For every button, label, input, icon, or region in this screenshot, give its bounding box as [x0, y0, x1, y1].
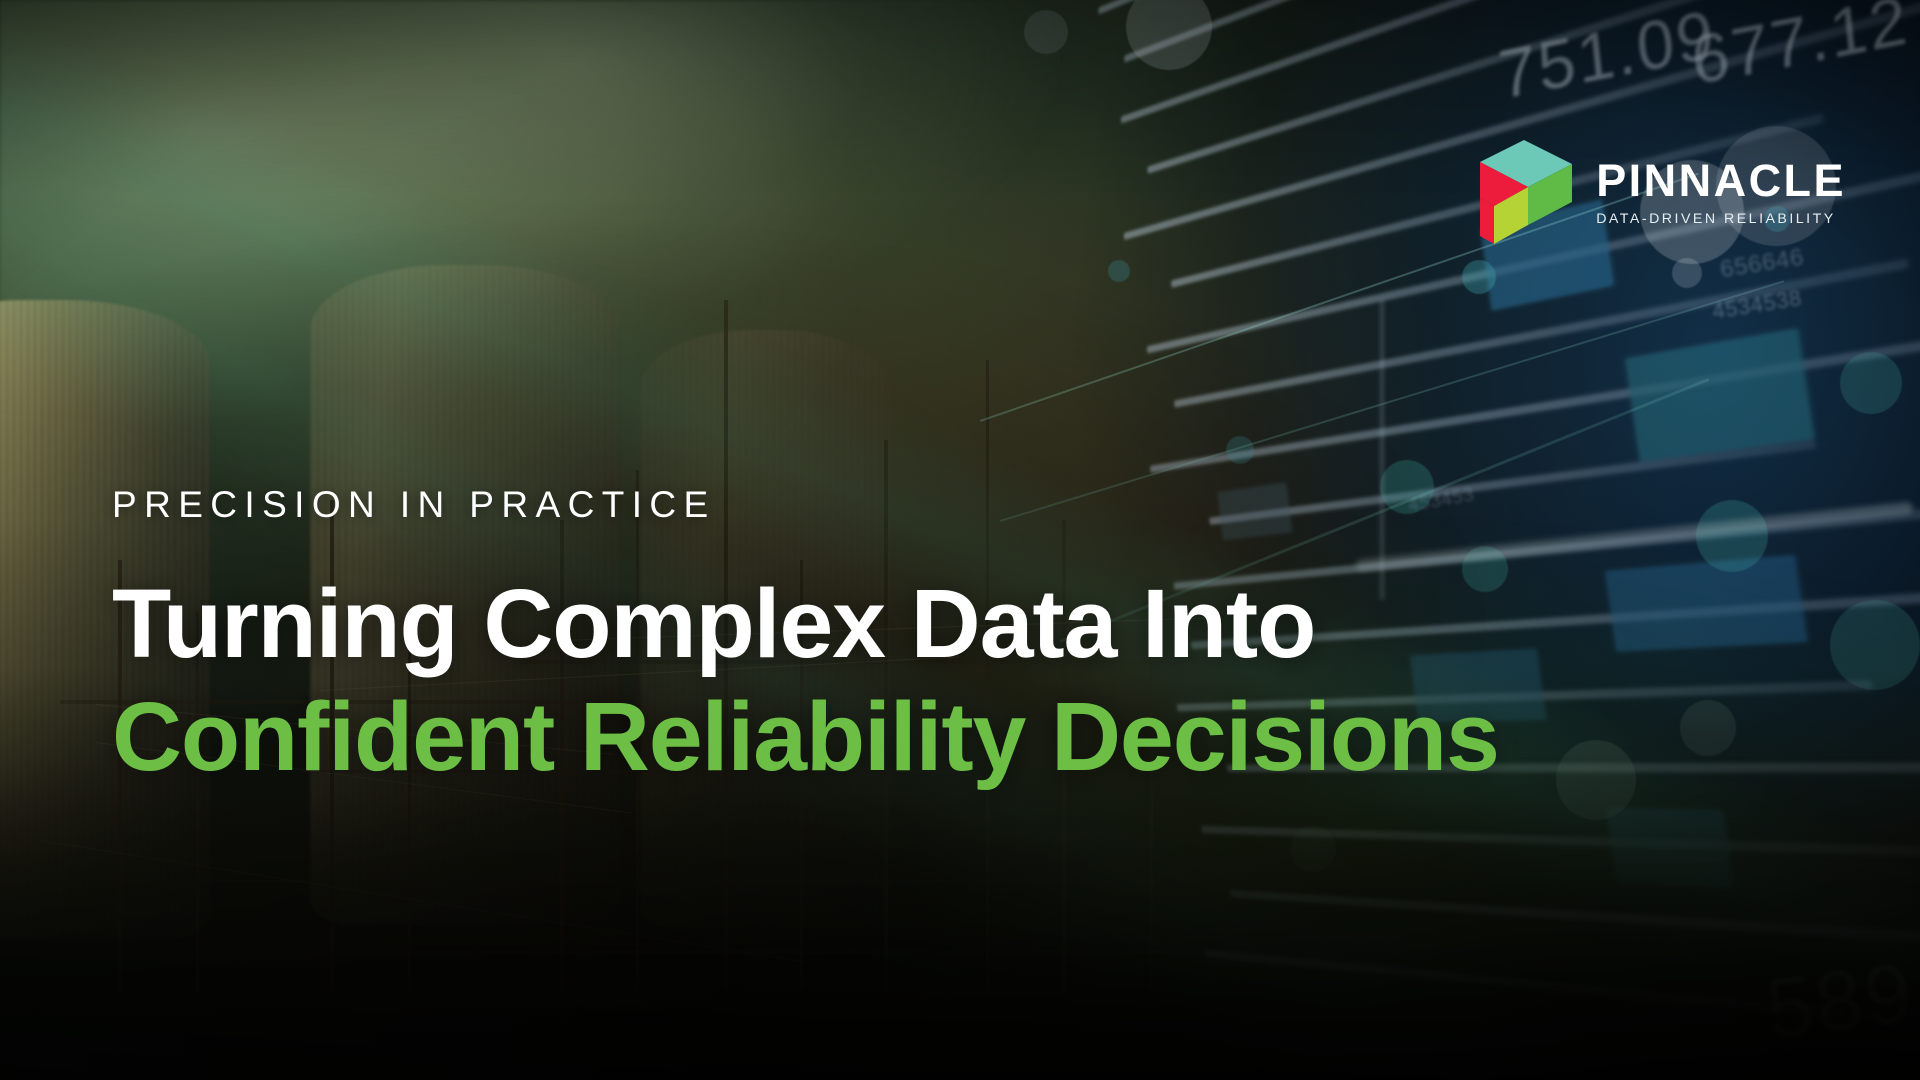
- pinnacle-logo-mark: [1478, 140, 1574, 244]
- pinnacle-tagline: DATA-DRIVEN RELIABILITY: [1596, 212, 1846, 226]
- pinnacle-logo[interactable]: PINNACLE DATA-DRIVEN RELIABILITY: [1478, 140, 1846, 244]
- hero-headline-line-1: Turning Complex Data Into: [112, 567, 1832, 680]
- hero-copy-block: PRECISION IN PRACTICE Turning Complex Da…: [112, 486, 1832, 794]
- pinnacle-logo-text: PINNACLE DATA-DRIVEN RELIABILITY: [1596, 158, 1846, 226]
- pinnacle-wordmark: PINNACLE: [1596, 158, 1846, 203]
- hero-headline-line-2: Confident Reliability Decisions: [112, 680, 1832, 793]
- hero-eyebrow: PRECISION IN PRACTICE: [112, 486, 1832, 523]
- hero-banner: 751.09 677.12 589.7 4534538 656646 45345…: [0, 0, 1920, 1080]
- hero-headline: Turning Complex Data Into Confident Reli…: [112, 567, 1832, 794]
